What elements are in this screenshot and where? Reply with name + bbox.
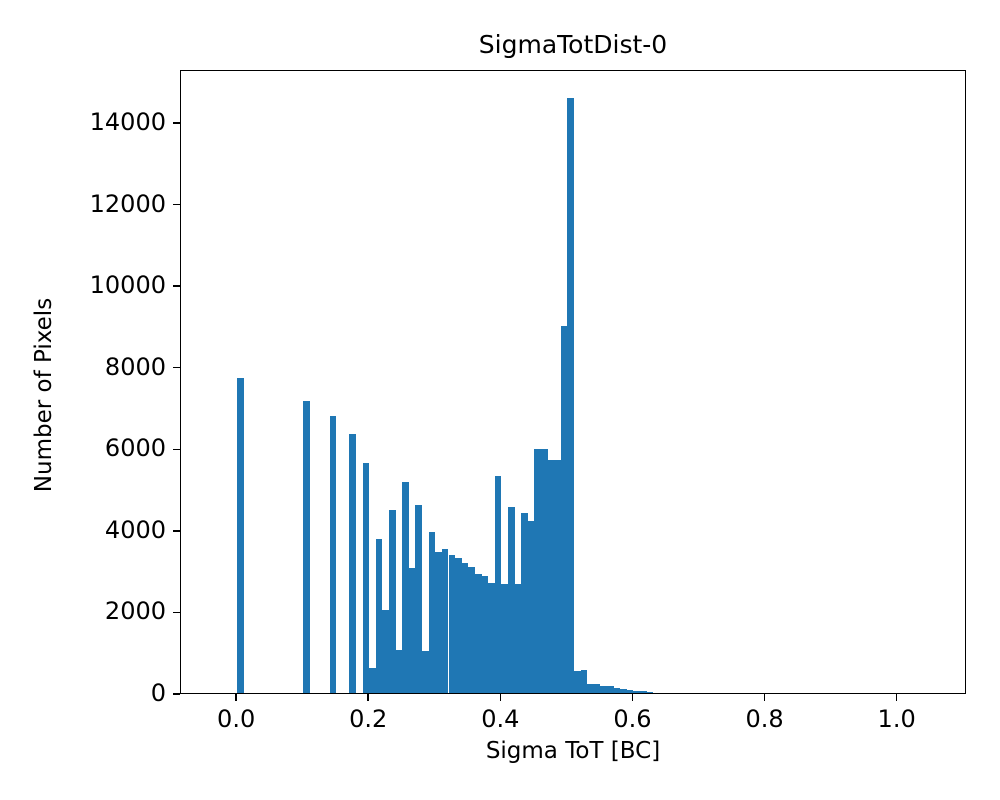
- x-tick-mark: [367, 694, 369, 701]
- y-tick-label: 8000: [3, 355, 166, 379]
- y-tick-mark: [173, 285, 180, 287]
- histogram-bar: [521, 513, 528, 693]
- x-tick-label: 0.8: [705, 706, 825, 732]
- y-tick-label: 6000: [3, 436, 166, 460]
- histogram-bar: [429, 532, 436, 693]
- y-tick-mark: [173, 367, 180, 369]
- histogram-bars: [181, 71, 965, 693]
- y-tick-label: 14000: [3, 110, 166, 134]
- histogram-bar: [534, 449, 541, 693]
- x-axis-label: Sigma ToT [BC]: [180, 738, 966, 764]
- histogram-bar: [548, 460, 555, 693]
- histogram-bar: [508, 507, 515, 693]
- matplotlib-figure: SigmaTotDist-0 0200040006000800010000120…: [0, 0, 1000, 800]
- histogram-bar: [303, 401, 310, 693]
- histogram-bar: [402, 482, 409, 693]
- histogram-bar: [581, 670, 588, 693]
- y-tick-mark: [173, 612, 180, 614]
- x-tick-label: 0.2: [308, 706, 428, 732]
- histogram-bar: [495, 476, 502, 693]
- y-tick-mark: [173, 449, 180, 451]
- y-tick-label: 0: [3, 681, 166, 705]
- histogram-bar: [574, 671, 581, 693]
- histogram-bar: [640, 691, 647, 693]
- y-tick-mark: [173, 122, 180, 124]
- x-tick-label: 0.6: [572, 706, 692, 732]
- histogram-bar: [455, 558, 462, 693]
- histogram-bar: [330, 416, 337, 693]
- x-tick-mark: [500, 694, 502, 701]
- histogram-bar: [442, 549, 449, 693]
- histogram-bar: [415, 505, 422, 693]
- y-tick-mark: [173, 204, 180, 206]
- histogram-bar: [607, 686, 614, 693]
- histogram-bar: [435, 552, 442, 693]
- histogram-bar: [389, 510, 396, 693]
- x-tick-mark: [896, 694, 898, 701]
- histogram-bar: [376, 539, 383, 693]
- histogram-bar: [587, 684, 594, 693]
- histogram-bar: [363, 463, 370, 693]
- histogram-bar: [600, 686, 607, 693]
- histogram-bar: [468, 567, 475, 693]
- histogram-bar: [594, 684, 601, 693]
- y-tick-mark: [173, 530, 180, 532]
- histogram-bar: [409, 568, 416, 693]
- y-tick-label: 10000: [3, 273, 166, 297]
- chart-title: SigmaTotDist-0: [180, 30, 966, 60]
- histogram-bar: [237, 378, 244, 693]
- histogram-bar: [462, 563, 469, 693]
- histogram-bar: [488, 583, 495, 693]
- histogram-bar: [475, 574, 482, 693]
- histogram-bar: [382, 610, 389, 693]
- histogram-bar: [515, 584, 522, 693]
- histogram-bar: [541, 449, 548, 693]
- histogram-bar: [647, 692, 654, 693]
- y-tick-label: 4000: [3, 518, 166, 542]
- histogram-bar: [620, 689, 627, 693]
- x-tick-mark: [632, 694, 634, 701]
- histogram-bar: [528, 521, 535, 693]
- histogram-bar: [614, 688, 621, 693]
- histogram-bar: [369, 668, 376, 693]
- histogram-bar: [449, 555, 456, 693]
- histogram-bar: [501, 584, 508, 693]
- plot-area: [180, 70, 966, 694]
- y-tick-label: 2000: [3, 599, 166, 623]
- histogram-bar: [482, 576, 489, 693]
- y-axis-label: Number of Pixels: [31, 245, 57, 545]
- histogram-bar: [554, 460, 561, 693]
- histogram-bar: [422, 651, 429, 693]
- x-tick-mark: [764, 694, 766, 701]
- y-tick-label: 12000: [3, 192, 166, 216]
- histogram-bar: [349, 434, 356, 693]
- histogram-bar: [561, 326, 568, 693]
- y-tick-mark: [173, 693, 180, 695]
- histogram-bar: [633, 691, 640, 693]
- histogram-bar: [396, 650, 403, 693]
- x-tick-label: 0.0: [176, 706, 296, 732]
- x-tick-mark: [235, 694, 237, 701]
- x-tick-label: 0.4: [440, 706, 560, 732]
- histogram-bar: [567, 98, 574, 693]
- x-tick-label: 1.0: [837, 706, 957, 732]
- histogram-bar: [627, 690, 634, 693]
